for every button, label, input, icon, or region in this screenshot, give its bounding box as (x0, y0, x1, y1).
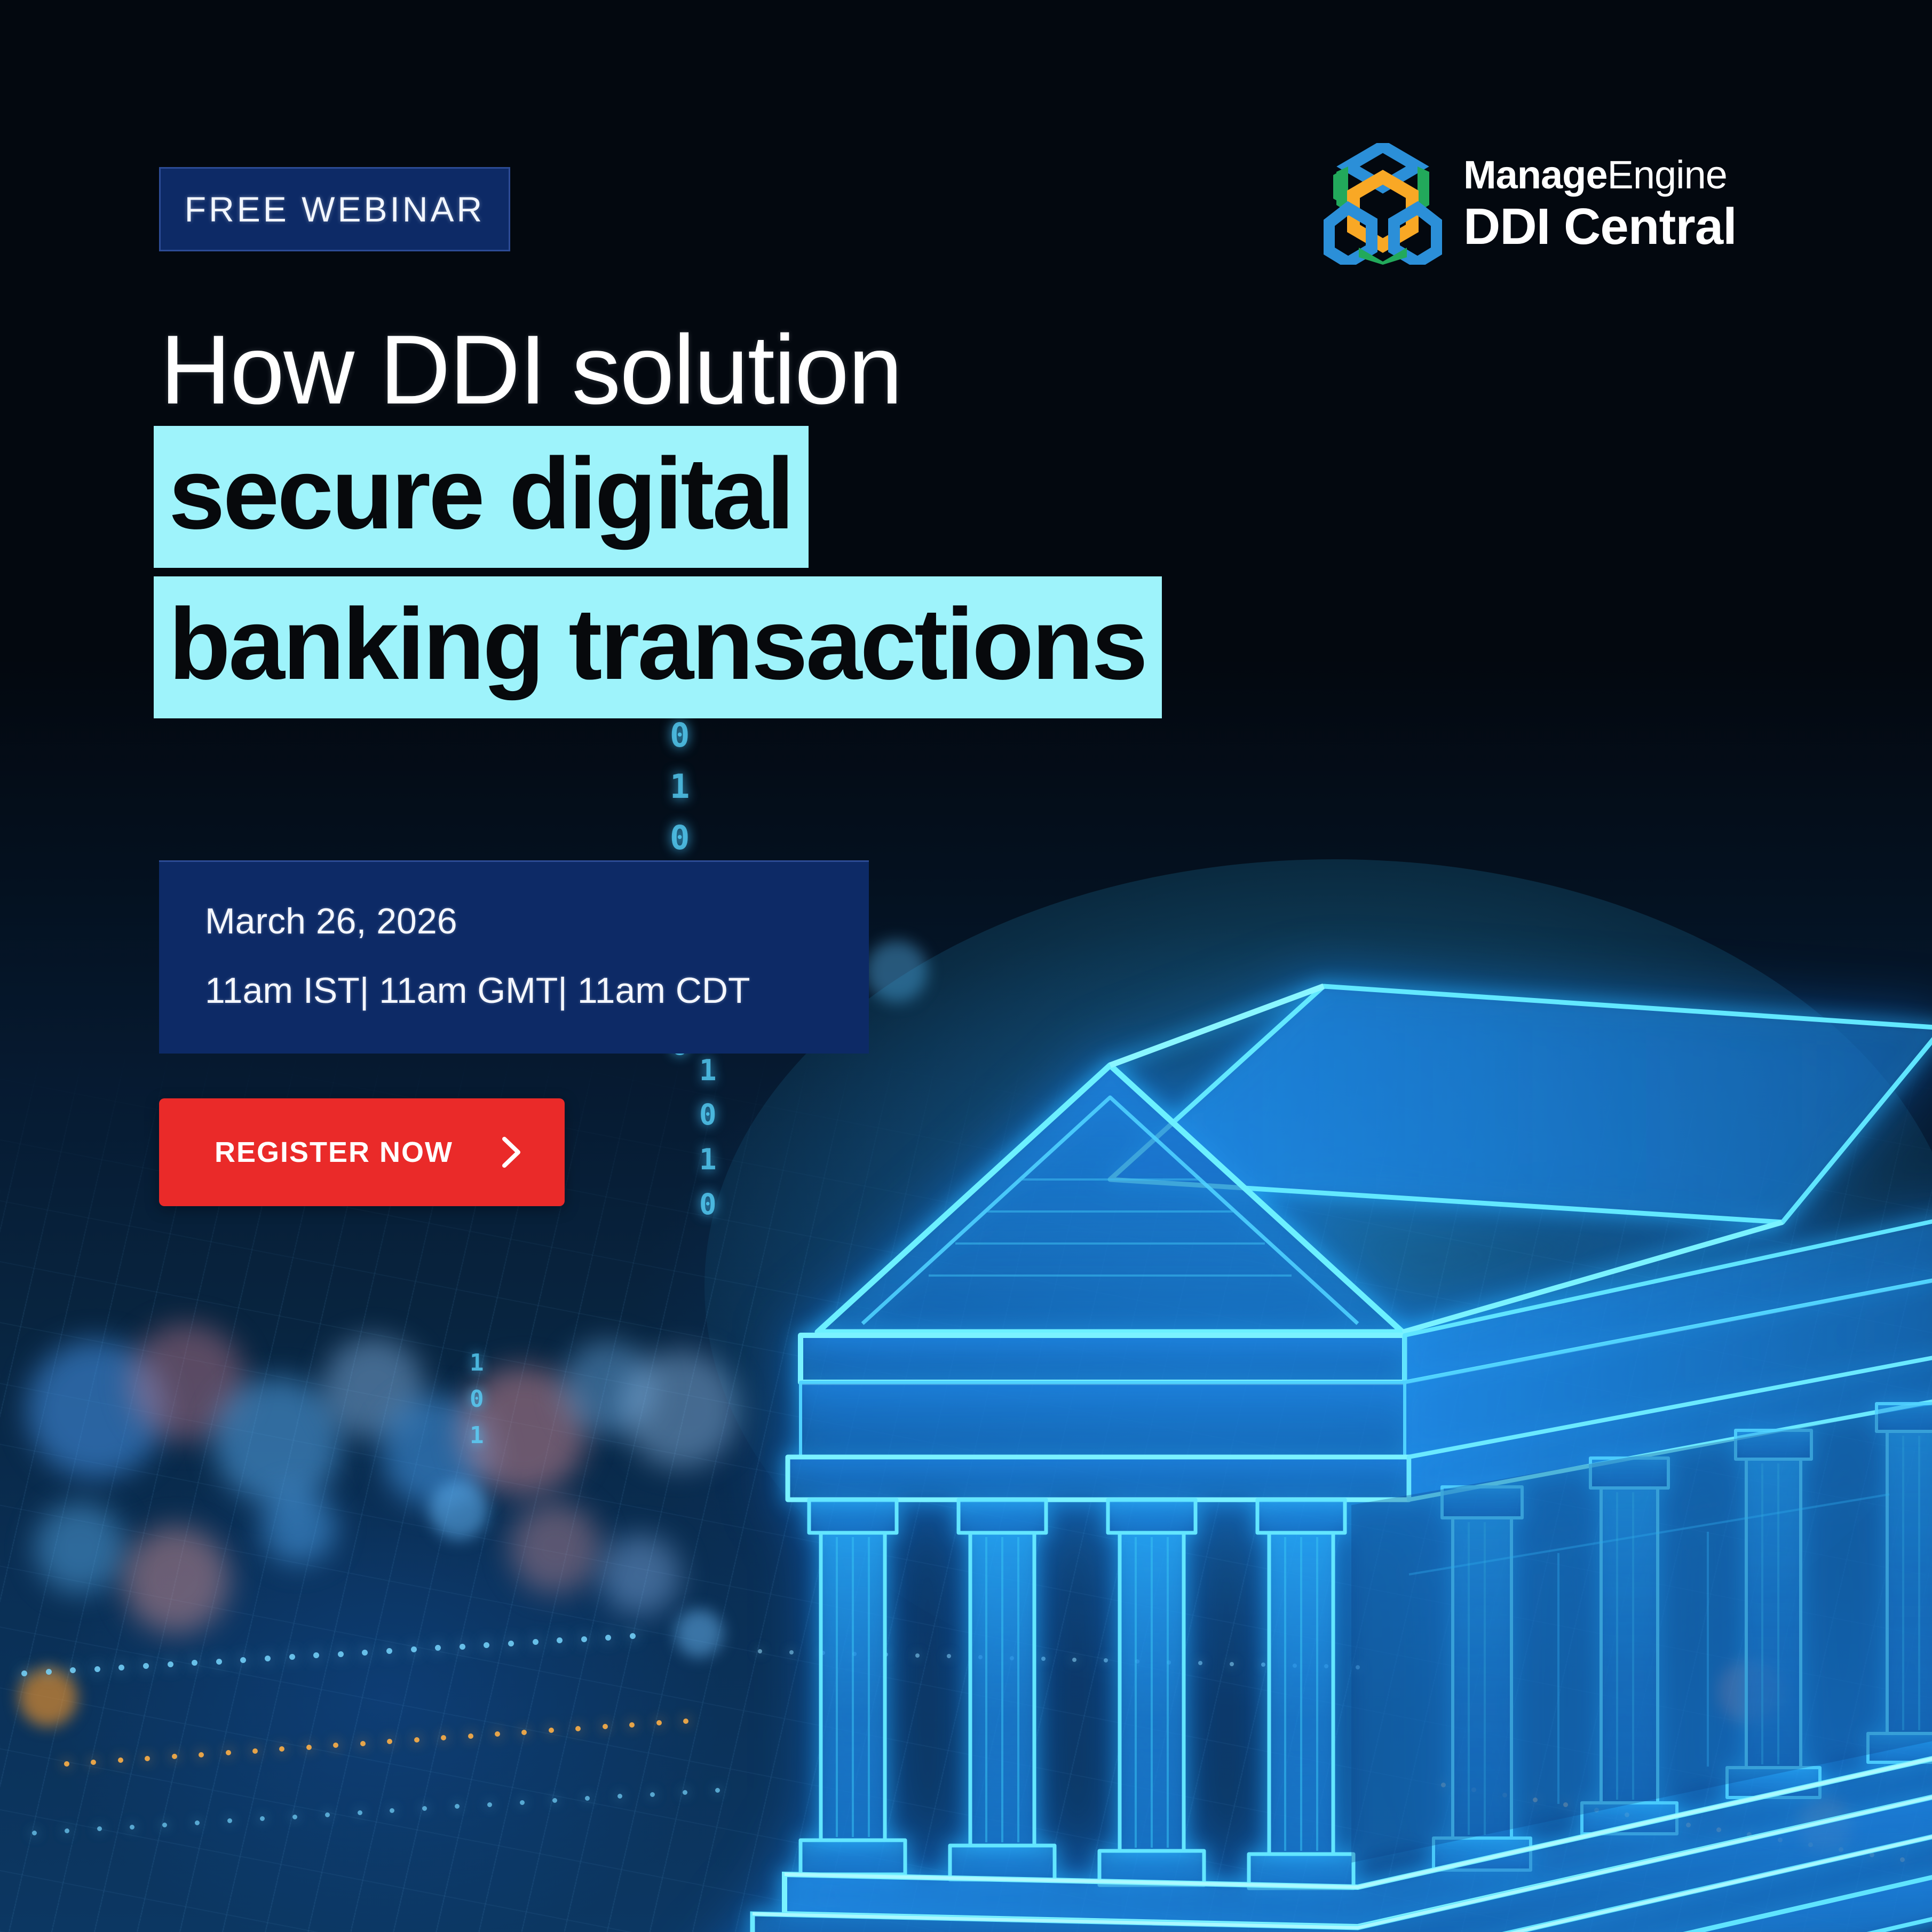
led-dot (306, 1745, 312, 1750)
led-dot (216, 1659, 222, 1665)
led-dot (21, 1670, 27, 1676)
headline-line-2: secure digital (154, 426, 809, 568)
led-dot (630, 1633, 636, 1639)
chevron-right-icon (499, 1136, 524, 1169)
register-now-button[interactable]: REGISTER NOW (159, 1098, 565, 1206)
led-dot (358, 1810, 362, 1815)
led-dot (487, 1802, 492, 1807)
led-dot (758, 1649, 762, 1653)
led-dot (94, 1666, 100, 1672)
led-dot (581, 1636, 587, 1642)
led-dot (468, 1733, 473, 1739)
event-details-panel: March 26, 2026 11am IST| 11am GMT| 11am … (159, 860, 869, 1054)
led-dot (360, 1741, 366, 1746)
logo-product-name: DDI Central (1463, 201, 1737, 252)
bokeh-dot (123, 1526, 229, 1633)
led-dot (162, 1823, 167, 1827)
led-dot (508, 1641, 514, 1646)
led-dot (145, 1756, 150, 1761)
led-dot (226, 1750, 231, 1755)
headline-line-2-row: secure digital (154, 426, 1595, 576)
led-dot (414, 1737, 419, 1743)
event-times: 11am IST| 11am GMT| 11am CDT (205, 970, 869, 1011)
logo-brand-name: ManageEngine (1463, 155, 1737, 195)
led-dot (292, 1815, 297, 1819)
logo-brand-suffix: Engine (1608, 153, 1727, 197)
led-dot (143, 1663, 149, 1669)
led-dot (91, 1760, 96, 1765)
manageengine-hexagon-icon (1324, 143, 1442, 265)
bokeh-dot (213, 1377, 342, 1505)
led-dot (46, 1669, 52, 1675)
bokeh-dot (430, 1481, 488, 1540)
free-webinar-label: FREE WEBINAR (185, 189, 485, 229)
led-dot (338, 1651, 344, 1657)
led-dot (386, 1648, 392, 1654)
led-dot (265, 1656, 271, 1661)
event-date: March 26, 2026 (205, 900, 869, 942)
bank-hologram-illustration (769, 902, 1932, 1932)
led-dot (199, 1752, 204, 1757)
bokeh-dot (35, 1502, 125, 1593)
logo-brand-prefix: Manage (1463, 153, 1608, 197)
headline-line-1: How DDI solution (154, 320, 1595, 418)
led-dot (227, 1818, 232, 1823)
register-now-label: REGISTER NOW (215, 1136, 453, 1169)
led-dot (130, 1825, 134, 1830)
headline-line-3: banking transactions (154, 576, 1162, 718)
headline-block: How DDI solution secure digital banking … (154, 320, 1595, 727)
led-dot (32, 1831, 37, 1835)
led-dot (683, 1790, 687, 1795)
webinar-banner: 0 1 0 0 1 1 00 1 0 1 01 0 1 (0, 0, 1932, 1932)
led-dot (64, 1761, 69, 1767)
led-dot (195, 1820, 200, 1825)
led-dot (325, 1812, 330, 1817)
led-dot (411, 1646, 417, 1652)
bokeh-dot (675, 1609, 723, 1657)
free-webinar-badge: FREE WEBINAR (159, 167, 510, 251)
led-dot (252, 1748, 258, 1754)
led-dot (118, 1757, 123, 1763)
headline-line-3-row: banking transactions (154, 576, 1595, 727)
binary-digit-column: 1 0 1 (470, 1345, 485, 1454)
led-dot (260, 1816, 265, 1821)
led-dot (168, 1661, 173, 1667)
bokeh-dot (262, 1489, 336, 1564)
bokeh-dot (600, 1534, 680, 1614)
led-dot (289, 1654, 295, 1660)
manageengine-ddi-central-logo: ManageEngine DDI Central (1324, 143, 1737, 265)
bokeh-dot (510, 1502, 600, 1593)
bokeh-dot (19, 1668, 77, 1727)
led-dot (683, 1719, 688, 1724)
led-dot (460, 1644, 465, 1650)
led-dot (650, 1792, 655, 1797)
led-dot (715, 1788, 720, 1793)
led-dot (533, 1639, 539, 1645)
led-dot (172, 1754, 177, 1759)
